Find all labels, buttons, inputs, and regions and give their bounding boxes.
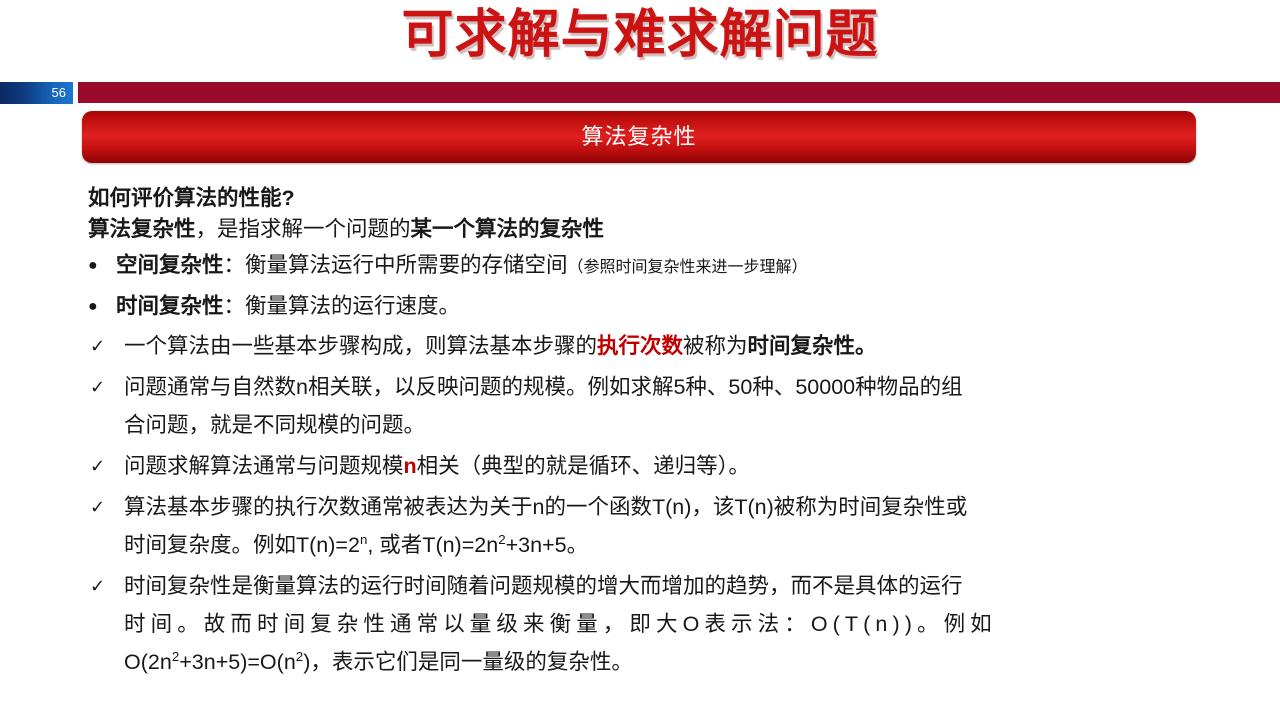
checkmark-icon: ✓ bbox=[90, 567, 105, 605]
math-run: +3n+5)=O(n bbox=[179, 650, 296, 674]
list-item: ✓ 时间复杂性是衡量算法的运行时间随着问题规模的增大而增加的趋势，而不是具体的运… bbox=[88, 567, 1203, 681]
bullet-label: 空间复杂性 bbox=[116, 253, 224, 277]
list-item-line: 问题通常与自然数n相关联，以反映问题的规模。例如求解5种、50种、50000种物… bbox=[124, 368, 1203, 406]
list-item-text: 一个算法由一些基本步骤构成，则算法基本步骤的执行次数被称为时间复杂性。 bbox=[124, 327, 1203, 365]
definition-emphasis: 某一个算法的复杂性 bbox=[411, 217, 605, 241]
math-run: +3n+5。 bbox=[506, 533, 588, 557]
page-number-badge: 56 bbox=[0, 82, 73, 104]
bullet-text: 衡量算法运行中所需要的存储空间 bbox=[245, 253, 568, 277]
bullet-text: 衡量算法的运行速度。 bbox=[245, 294, 460, 318]
list-item-line: 时间复杂性是衡量算法的运行时间随着问题规模的增大而增加的趋势，而不是具体的运行 bbox=[124, 567, 1203, 605]
slide-canvas: 可求解与难求解问题 56 算法复杂性 如何评价算法的性能? 算法复杂性，是指求解… bbox=[0, 0, 1280, 720]
list-item: ✓ 算法基本步骤的执行次数通常被表达为关于n的一个函数T(n)，该T(n)被称为… bbox=[88, 488, 1203, 564]
body-heading: 如何评价算法的性能? bbox=[88, 183, 1203, 213]
list-item-line-math: O(2n2+3n+5)=O(n2)，表示它们是同一量级的复杂性。 bbox=[124, 643, 1203, 681]
checkmark-icon: ✓ bbox=[90, 447, 105, 485]
checkmark-icon: ✓ bbox=[90, 327, 105, 365]
math-run: , 或者T(n)=2n bbox=[367, 533, 498, 557]
section-banner: 算法复杂性 bbox=[82, 111, 1196, 163]
checkmark-icon: ✓ bbox=[90, 368, 105, 406]
list-item-text: 问题求解算法通常与问题规模n相关（典型的就是循环、递归等）。 bbox=[124, 447, 1203, 485]
bullet-space-complexity: ●空间复杂性：衡量算法运行中所需要的存储空间（参照时间复杂性来进一步理解） bbox=[88, 248, 1203, 285]
list-item: ✓ 问题通常与自然数n相关联，以反映问题的规模。例如求解5种、50种、50000… bbox=[88, 368, 1203, 444]
math-superscript: 2 bbox=[498, 532, 505, 547]
math-run: O(2n bbox=[124, 650, 172, 674]
text-run-bold: 时间复杂性。 bbox=[748, 334, 877, 358]
list-item-line-math: 时间复杂度。例如T(n)=2n, 或者T(n)=2n2+3n+5。 bbox=[124, 526, 1203, 564]
definition-mid: ，是指求解一个问题的 bbox=[196, 217, 411, 241]
math-run: 时间复杂度。例如T(n)=2 bbox=[124, 533, 360, 557]
text-run-highlight: n bbox=[404, 454, 417, 478]
text-run: 相关（典型的就是循环、递归等）。 bbox=[417, 454, 750, 478]
bullet-time-complexity: ●时间复杂性：衡量算法的运行速度。 bbox=[88, 289, 1203, 324]
definition-term: 算法复杂性 bbox=[88, 217, 196, 241]
list-item: ✓ 问题求解算法通常与问题规模n相关（典型的就是循环、递归等）。 bbox=[88, 447, 1203, 485]
body-definition-line: 算法复杂性，是指求解一个问题的某一个算法的复杂性 bbox=[88, 214, 1203, 244]
section-banner-label: 算法复杂性 bbox=[82, 111, 1196, 163]
text-run-highlight: 执行次数 bbox=[597, 334, 683, 358]
bullet-note: （参照时间复杂性来进一步理解） bbox=[568, 259, 808, 276]
checkmark-icon: ✓ bbox=[90, 488, 105, 526]
page-number-value: 56 bbox=[52, 84, 66, 102]
list-item-line: 合问题，就是不同规模的问题。 bbox=[124, 406, 1203, 444]
bullet-colon: ： bbox=[224, 294, 246, 318]
filled-circle-bullet-icon: ● bbox=[88, 248, 116, 283]
bullet-label: 时间复杂性 bbox=[116, 294, 224, 318]
list-item-line: 算法基本步骤的执行次数通常被表达为关于n的一个函数T(n)，该T(n)被称为时间… bbox=[124, 488, 1203, 526]
slide-body: 如何评价算法的性能? 算法复杂性，是指求解一个问题的某一个算法的复杂性 ●空间复… bbox=[88, 183, 1203, 681]
header-crimson-strip bbox=[78, 82, 1280, 103]
text-run: 一个算法由一些基本步骤构成，则算法基本步骤的 bbox=[124, 334, 597, 358]
list-item: ✓ 一个算法由一些基本步骤构成，则算法基本步骤的执行次数被称为时间复杂性。 bbox=[88, 327, 1203, 365]
list-item-line-justified: 时间。故而时间复杂性通常以量级来衡量，即大O表示法：O(T(n))。例如 bbox=[124, 605, 1203, 643]
text-run: 被称为 bbox=[683, 334, 748, 358]
text-run: 问题求解算法通常与问题规模 bbox=[124, 454, 404, 478]
math-run: )，表示它们是同一量级的复杂性。 bbox=[303, 650, 633, 674]
page-title: 可求解与难求解问题 bbox=[0, 6, 1280, 66]
bullet-colon: ： bbox=[224, 253, 246, 277]
filled-circle-bullet-icon: ● bbox=[88, 289, 116, 324]
